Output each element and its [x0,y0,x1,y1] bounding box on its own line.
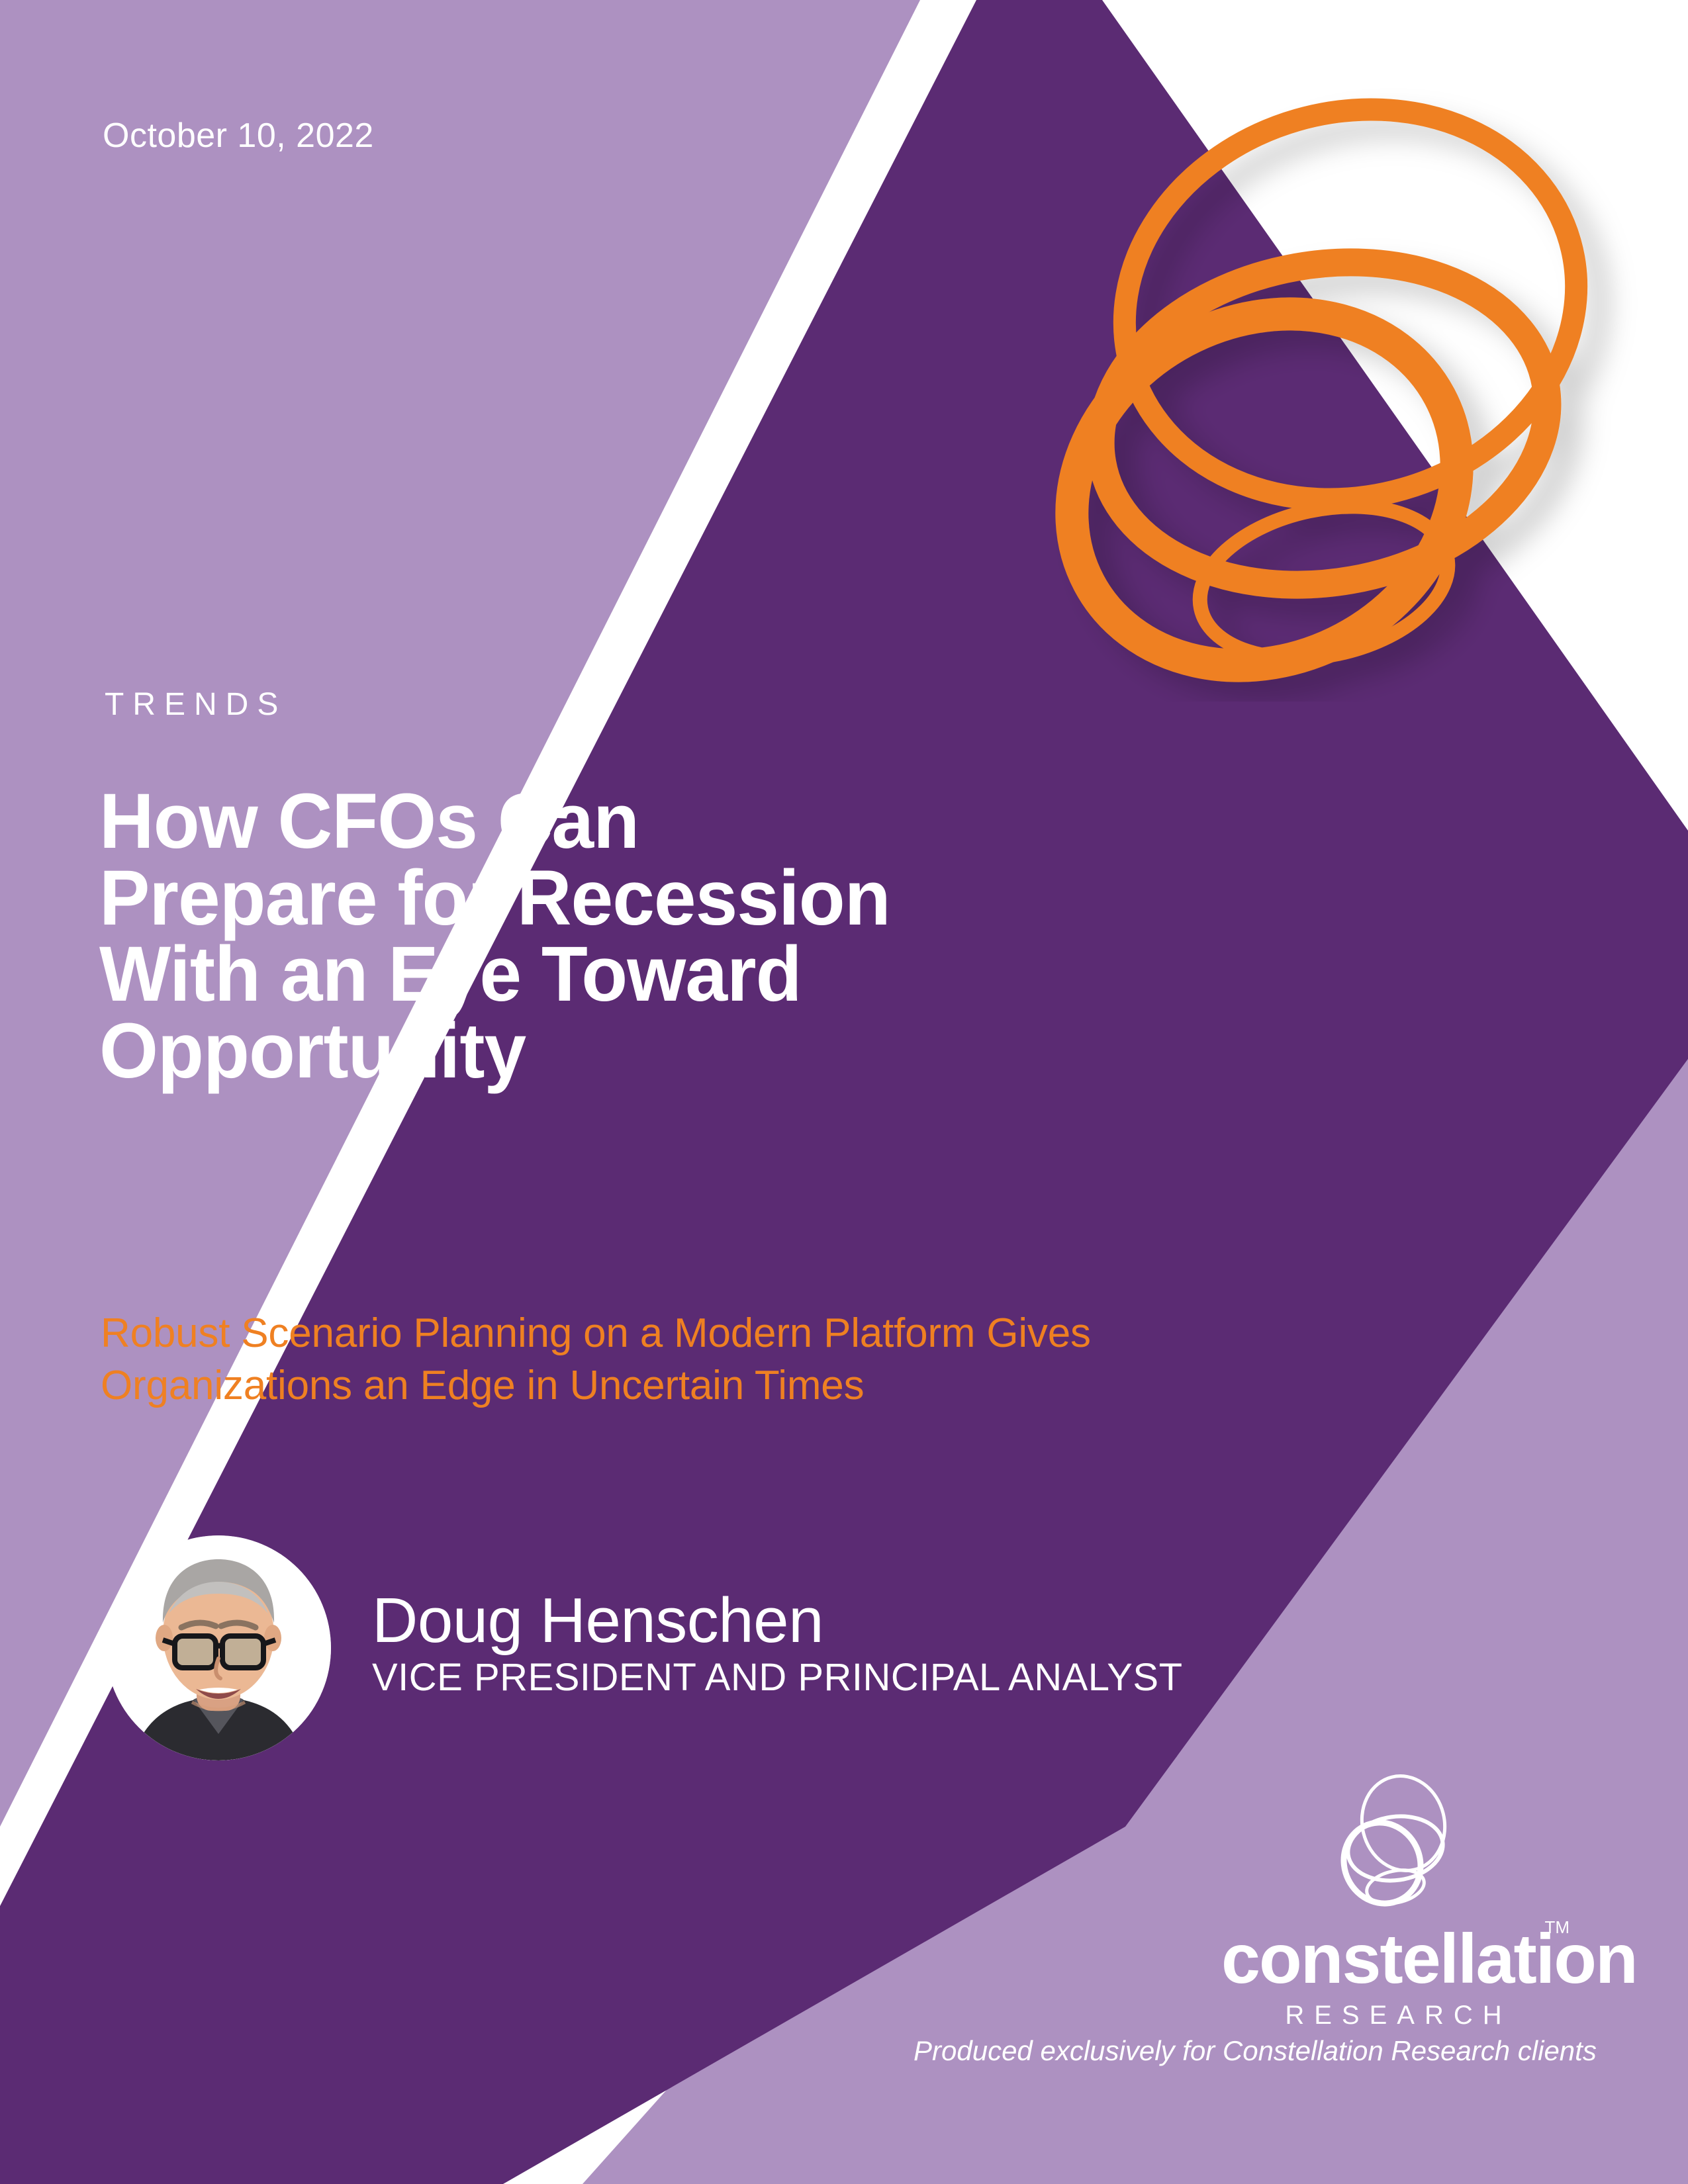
brand-trademark: TM [1544,1919,1570,1936]
brand-wordmark: constellationTM [1221,1924,1566,1994]
constellation-rings-icon [1311,1764,1476,1929]
subtitle-line-1: Robust Scenario Planning on a Modern Pla… [101,1307,1491,1359]
title-line-4: Opportunity [99,1013,1422,1090]
page-title: How CFOs Can Prepare for Recession With … [99,784,1422,1090]
subtitle-line-2: Organizations an Edge in Uncertain Times [101,1359,1491,1412]
orange-rings-icon [980,40,1642,702]
title-line-3: With an Eye Toward [99,936,1422,1013]
cover-page: October 10, 2022 TRENDS How CFOs Can Pre… [0,0,1688,2184]
footer-note: Produced exclusively for Constellation R… [914,2035,1575,2067]
brand-subword: RESEARCH [1221,2001,1566,2030]
constellation-research-logo: constellationTM RESEARCH [1221,1764,1566,2030]
author-name: Doug Henschen [372,1588,1183,1653]
title-line-1: How CFOs Can [99,784,1422,860]
publication-date: October 10, 2022 [103,116,374,156]
page-subtitle: Robust Scenario Planning on a Modern Pla… [101,1307,1491,1412]
title-line-2: Prepare for Recession [99,860,1422,937]
author-text: Doug Henschen VICE PRESIDENT AND PRINCIP… [372,1588,1183,1708]
author-role: VICE PRESIDENT AND PRINCIPAL ANALYST [372,1657,1183,1699]
author-headshot-avatar [106,1535,331,1760]
brand-wordmark-text: constellation [1221,1920,1637,1998]
author-block: Doug Henschen VICE PRESIDENT AND PRINCIP… [106,1535,1183,1760]
category-label: TRENDS [105,686,287,723]
